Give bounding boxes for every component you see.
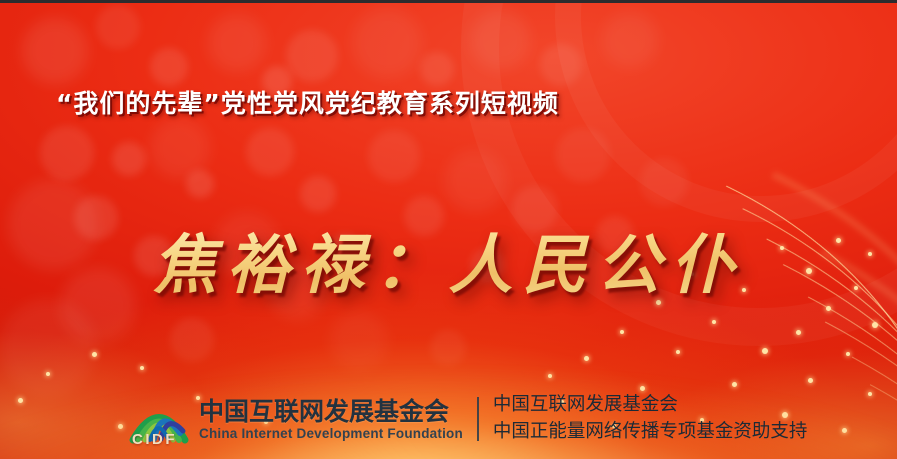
foundation-name-en: China Internet Development Foundation xyxy=(199,425,463,443)
page-title: 焦裕禄：人民公仆 xyxy=(0,214,897,306)
foundation-name-block: 中国互联网发展基金会 China Internet Development Fo… xyxy=(199,398,463,445)
sparkle-dot xyxy=(872,322,878,328)
sparkle-dot xyxy=(712,320,716,324)
sparkle-dot xyxy=(796,330,801,335)
cidf-abbreviation: CIDF xyxy=(132,431,177,448)
sparkle-dot xyxy=(846,352,850,356)
footer-credits: CIDF 中国互联网发展基金会 China Internet Developme… xyxy=(128,392,807,445)
sparkle-dot xyxy=(584,356,589,361)
sparkle-dot xyxy=(620,330,624,334)
video-title-card: “我们的先辈”党性党风党纪教育系列短视频 焦裕禄：人民公仆 CIDF xyxy=(0,0,897,459)
cidf-rainbow-arc-logo: CIDF xyxy=(128,393,190,445)
top-edge-strip xyxy=(0,0,897,3)
series-subtitle: “我们的先辈”党性党风党纪教育系列短视频 xyxy=(56,84,559,120)
sponsor-line-2: 中国正能量网络传播专项基金资助支持 xyxy=(493,419,808,445)
sparkle-dot xyxy=(762,348,768,354)
foundation-logo: CIDF 中国互联网发展基金会 China Internet Developme… xyxy=(128,393,463,445)
sponsor-text-block: 中国互联网发展基金会 中国正能量网络传播专项基金资助支持 xyxy=(493,392,808,445)
sparkle-dot xyxy=(676,350,680,354)
footer-divider xyxy=(477,397,479,441)
sponsor-line-1: 中国互联网发展基金会 xyxy=(493,392,808,418)
sparkle-dot xyxy=(92,352,97,357)
foundation-name-cn: 中国互联网发展基金会 xyxy=(199,398,463,425)
sparkle-dot xyxy=(826,306,831,311)
